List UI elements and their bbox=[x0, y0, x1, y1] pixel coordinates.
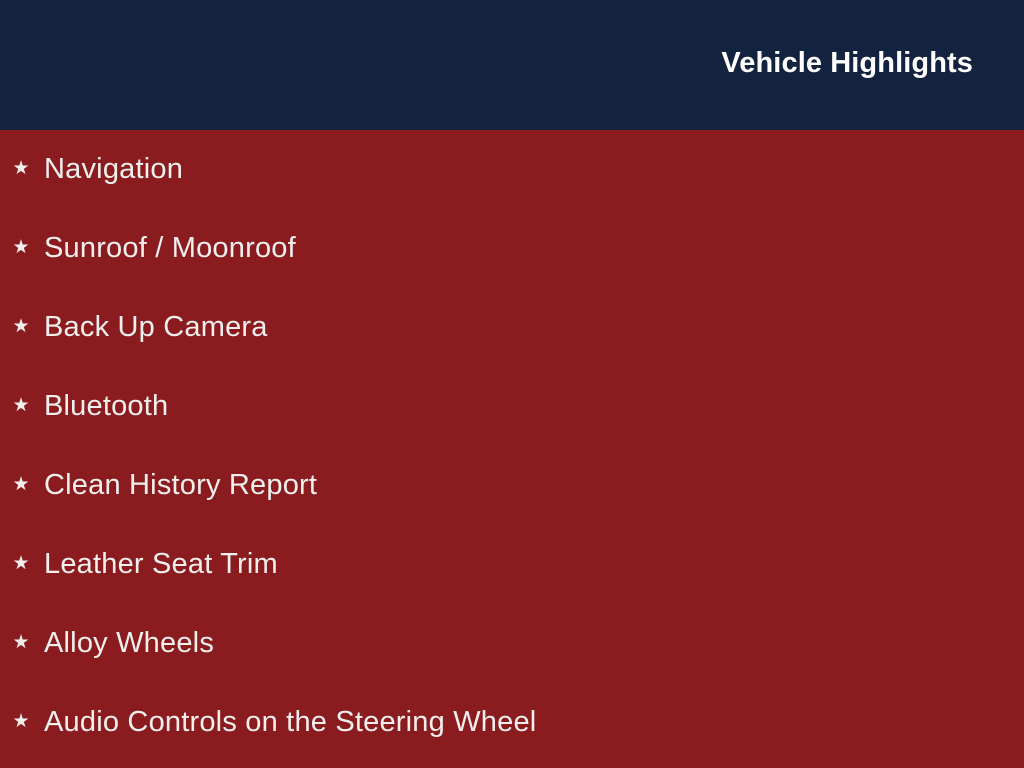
star-icon: ★ bbox=[10, 712, 32, 731]
list-item: ★ Bluetooth bbox=[10, 386, 168, 426]
list-item-label: Alloy Wheels bbox=[44, 629, 214, 658]
slide-header-band: Vehicle Highlights bbox=[0, 0, 1024, 130]
list-item: ★ Navigation bbox=[10, 149, 183, 189]
list-item-label: Sunroof / Moonroof bbox=[44, 234, 296, 263]
list-item-label: Bluetooth bbox=[44, 392, 168, 421]
star-icon: ★ bbox=[10, 238, 32, 257]
list-item-label: Audio Controls on the Steering Wheel bbox=[44, 708, 536, 737]
vehicle-highlights-slide: Vehicle Highlights ★ Navigation ★ Sunroo… bbox=[0, 0, 1024, 768]
star-icon: ★ bbox=[10, 554, 32, 573]
star-icon: ★ bbox=[10, 396, 32, 415]
list-item-label: Clean History Report bbox=[44, 471, 317, 500]
star-icon: ★ bbox=[10, 159, 32, 178]
page-title: Vehicle Highlights bbox=[721, 49, 973, 78]
list-item: ★ Audio Controls on the Steering Wheel bbox=[10, 702, 536, 742]
list-item: ★ Clean History Report bbox=[10, 465, 317, 505]
list-item: ★ Back Up Camera bbox=[10, 307, 268, 347]
list-item-label: Leather Seat Trim bbox=[44, 550, 278, 579]
list-item: ★ Sunroof / Moonroof bbox=[10, 228, 296, 268]
list-item-label: Navigation bbox=[44, 155, 183, 184]
list-item-label: Back Up Camera bbox=[44, 313, 268, 342]
star-icon: ★ bbox=[10, 633, 32, 652]
star-icon: ★ bbox=[10, 475, 32, 494]
star-icon: ★ bbox=[10, 317, 32, 336]
list-item: ★ Leather Seat Trim bbox=[10, 544, 278, 584]
list-item: ★ Alloy Wheels bbox=[10, 623, 214, 663]
